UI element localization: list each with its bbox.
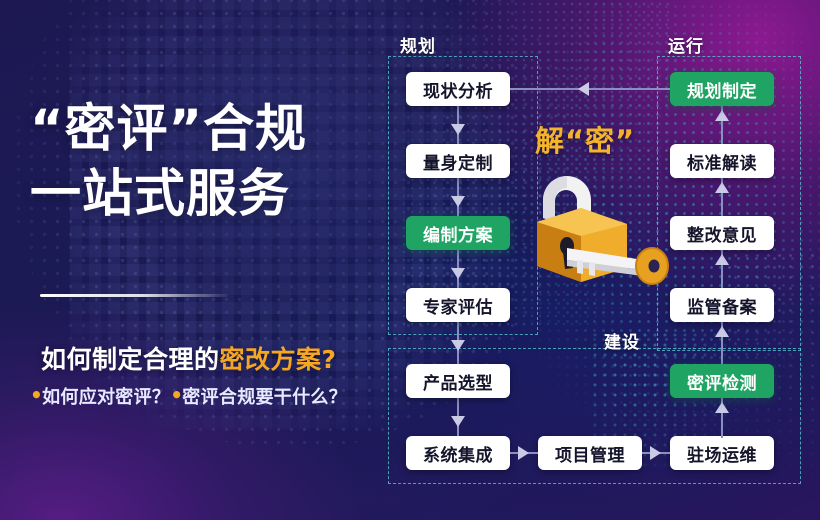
node-项目管理[interactable]: 项目管理: [538, 436, 642, 470]
node-编制方案[interactable]: 编制方案: [406, 216, 510, 250]
node-监管备案[interactable]: 监管备案: [670, 288, 774, 322]
node-产品选型[interactable]: 产品选型: [406, 364, 510, 398]
group-label-construction: 建设: [604, 328, 640, 353]
node-标准解读[interactable]: 标准解读: [670, 144, 774, 178]
connector-run-to-plan: [510, 88, 670, 90]
arrow-build-2-3: [518, 446, 529, 460]
arrow-run-4-3: [715, 254, 729, 265]
node-现状分析[interactable]: 现状分析: [406, 72, 510, 106]
group-label-planning: 规划: [400, 32, 436, 57]
arrow-plan-4-build: [451, 340, 465, 351]
node-整改意见[interactable]: 整改意见: [670, 216, 774, 250]
arrow-plan-1-2: [451, 124, 465, 135]
arrow-run-6-5: [715, 402, 729, 413]
arrow-plan-2-3: [451, 196, 465, 207]
node-密评检测[interactable]: 密评检测: [670, 364, 774, 398]
arrow-plan-3-4: [451, 268, 465, 279]
padlock-with-key-icon: [515, 156, 675, 286]
node-量身定制[interactable]: 量身定制: [406, 144, 510, 178]
group-label-operation: 运行: [668, 32, 704, 57]
arrow-run-3-2: [715, 182, 729, 193]
node-驻场运维[interactable]: 驻场运维: [670, 436, 774, 470]
node-专家评估[interactable]: 专家评估: [406, 288, 510, 322]
poster-canvas: “密评”合规 一站式服务 如何制定合理的密改方案? •如何应对密评？•密评合规要…: [0, 0, 820, 520]
arrow-run-to-plan: [578, 82, 589, 96]
process-flow-diagram: 规划 运行 建设 现状分析 量身定制 编制方案 专家评估 产品选型 系统集成 项…: [0, 0, 820, 520]
arrow-run-2-1: [715, 110, 729, 121]
lock-illustration: 解“密”: [515, 118, 675, 293]
arrow-build-3-4: [650, 446, 661, 460]
lock-caption: 解“密”: [535, 118, 635, 160]
arrow-build-1-2: [451, 416, 465, 427]
arrow-run-5-4: [715, 326, 729, 337]
node-系统集成[interactable]: 系统集成: [406, 436, 510, 470]
node-规划制定[interactable]: 规划制定: [670, 72, 774, 106]
